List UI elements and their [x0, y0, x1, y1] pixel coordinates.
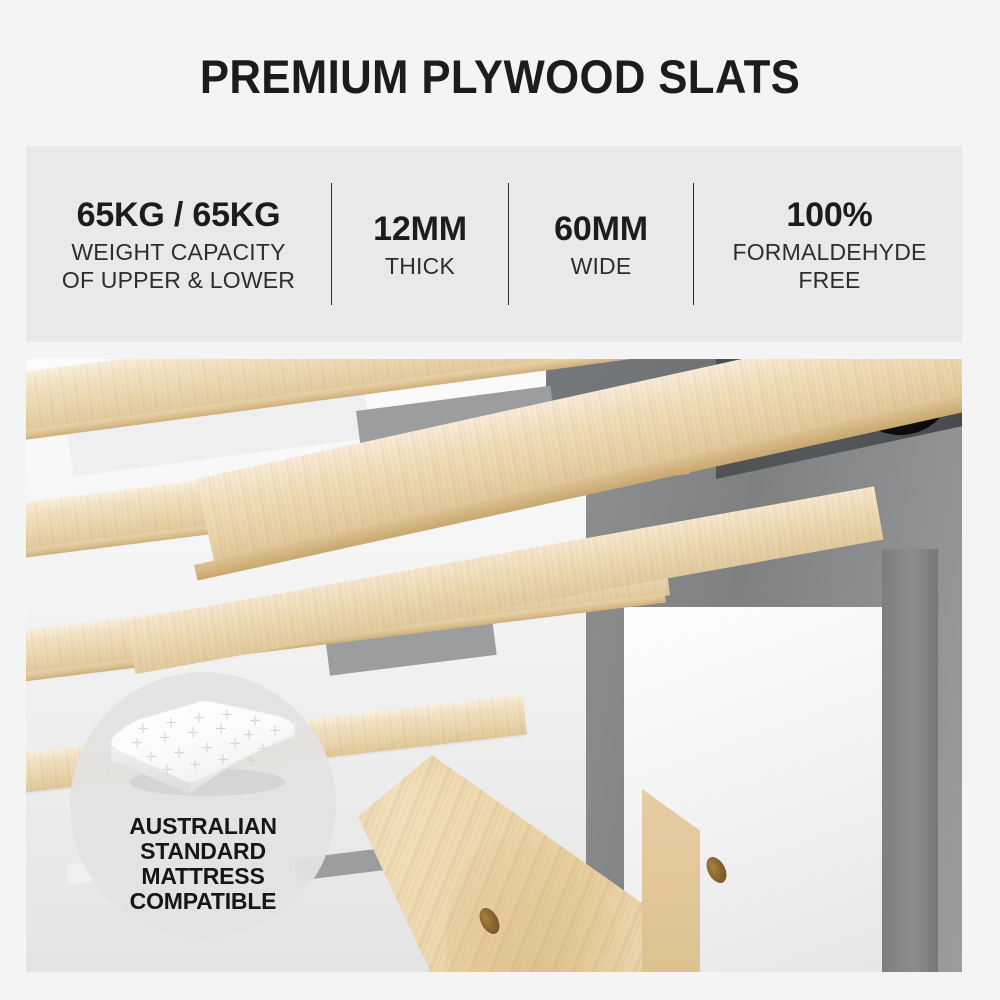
- spec-headline: 100%: [700, 195, 959, 235]
- spec-subtext: THICK: [338, 252, 502, 280]
- spec-headline: 60MM: [515, 209, 687, 249]
- spec-headline: 65KG / 65KG: [32, 195, 325, 235]
- spec-bar: 65KG / 65KG WEIGHT CAPACITY OF UPPER & L…: [26, 146, 962, 342]
- spec-subtext-line-1: WEIGHT CAPACITY: [71, 239, 285, 265]
- badge-label-line-4: COMPATIBLE: [129, 889, 277, 914]
- mattress-compatible-badge: AUSTRALIAN STANDARD MATTRESS COMPATIBLE: [70, 672, 336, 938]
- spec-item-thickness: 12MM THICK: [332, 209, 508, 280]
- badge-label-line-1: AUSTRALIAN: [129, 814, 277, 839]
- spec-item-width: 60MM WIDE: [509, 209, 693, 280]
- spec-item-formaldehyde: 100% FORMALDEHYDE FREE: [694, 195, 965, 294]
- mattress-icon: [103, 698, 303, 802]
- spec-subtext: WIDE: [515, 252, 687, 280]
- badge-label-line-2: STANDARD: [129, 839, 277, 864]
- spec-subtext-line-1: FORMALDEHYDE: [732, 239, 926, 265]
- badge-label-line-3: MATTRESS: [129, 864, 277, 889]
- spec-subtext: WEIGHT CAPACITY OF UPPER & LOWER: [32, 238, 325, 294]
- spec-subtext-line-1: WIDE: [571, 253, 632, 279]
- spec-item-weight-capacity: 65KG / 65KG WEIGHT CAPACITY OF UPPER & L…: [26, 195, 331, 294]
- spec-subtext-line-1: THICK: [385, 253, 455, 279]
- spec-headline: 12MM: [338, 209, 502, 249]
- spec-subtext: FORMALDEHYDE FREE: [700, 238, 959, 294]
- spec-subtext-line-2: FREE: [700, 266, 959, 294]
- frame-post-right: [882, 549, 938, 972]
- page-title: PREMIUM PLYWOOD SLATS: [35, 51, 965, 103]
- badge-label: AUSTRALIAN STANDARD MATTRESS COMPATIBLE: [129, 814, 277, 914]
- spec-subtext-line-2: OF UPPER & LOWER: [32, 266, 325, 294]
